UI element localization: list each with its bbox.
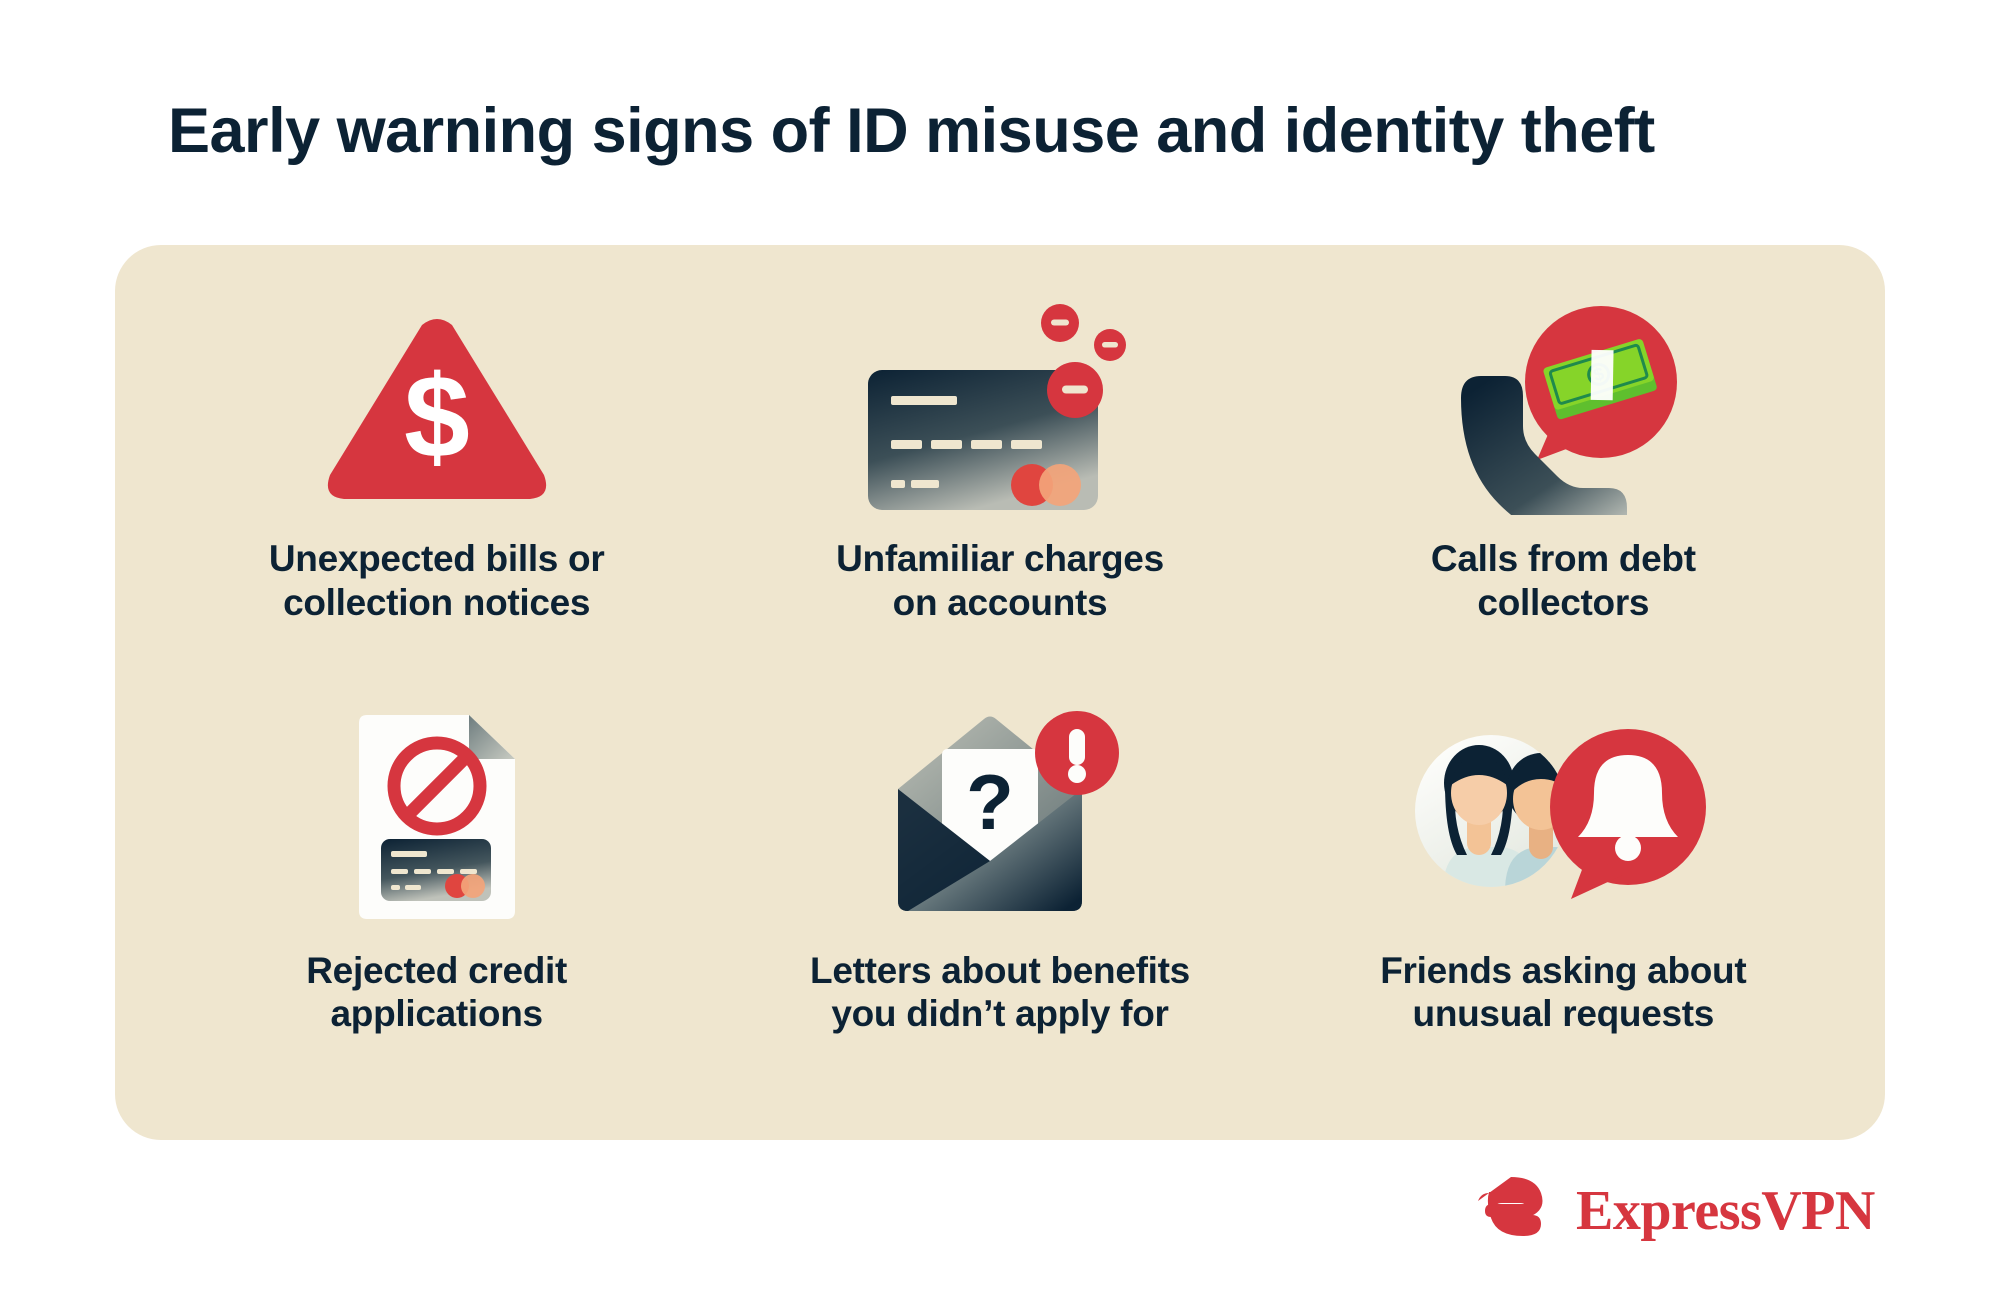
infographic-root: Early warning signs of ID misuse and ide… [0, 0, 1999, 1311]
warning-sign-caption: Calls from debt collectors [1431, 537, 1696, 624]
warning-signs-panel: $ Unexpected bills or collection notices [115, 245, 1885, 1140]
expressvpn-logo[interactable]: ExpressVPN [1478, 1175, 1875, 1246]
warning-sign-item-friends-requests: Friends asking about unusual requests [1282, 695, 1845, 1107]
credit-card-minus-icon [860, 283, 1140, 531]
svg-text:?: ? [966, 758, 1014, 846]
envelope-question-alert-icon: ? [880, 695, 1120, 943]
warning-sign-caption: Rejected credit applications [306, 949, 567, 1036]
brand-name: ExpressVPN [1576, 1183, 1875, 1239]
warning-sign-caption: Friends asking about unusual requests [1380, 949, 1746, 1036]
svg-text:$: $ [404, 351, 470, 483]
warning-triangle-dollar-icon: $ [322, 283, 552, 531]
warning-sign-item-benefit-letters: ? Letters about benefits you didn’t appl… [718, 695, 1281, 1107]
warning-sign-caption: Unexpected bills or collection notices [269, 537, 605, 624]
warning-sign-caption: Letters about benefits you didn’t apply … [810, 949, 1190, 1036]
people-bell-bubble-icon [1413, 695, 1713, 943]
document-prohibited-card-icon [337, 695, 537, 943]
page-title: Early warning signs of ID misuse and ide… [168, 97, 1868, 166]
warning-sign-item-debt-collector-calls: $ Calls from debt collectors [1282, 283, 1845, 695]
warning-sign-caption: Unfamiliar charges on accounts [836, 537, 1164, 624]
warning-sign-item-rejected-credit: Rejected credit applications [155, 695, 718, 1107]
warning-sign-item-unfamiliar-charges: Unfamiliar charges on accounts [718, 283, 1281, 695]
warning-sign-item-unexpected-bills: $ Unexpected bills or collection notices [155, 283, 718, 695]
phone-money-bubble-icon: $ [1433, 283, 1693, 531]
expressvpn-e-logo-icon [1478, 1175, 1558, 1246]
warning-signs-grid: $ Unexpected bills or collection notices [115, 245, 1885, 1140]
